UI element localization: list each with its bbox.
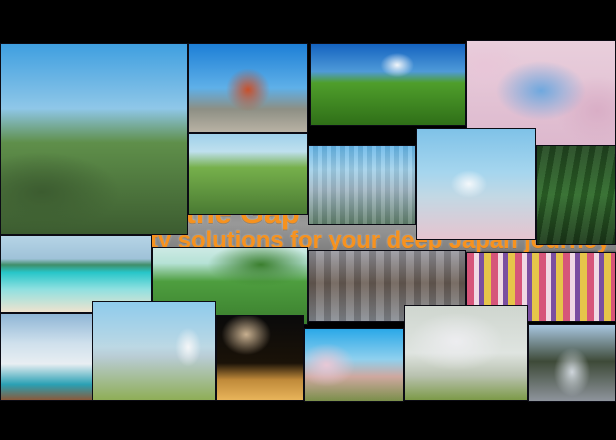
- collage-tile-shrine-torii-approach: [528, 324, 616, 402]
- collage-tile-cherry-trees-country-station: [404, 305, 528, 401]
- collage-tile-tea-plantation-mount-fuji: [310, 43, 466, 126]
- collage-tile-night-float-lantern-festival: [216, 315, 304, 401]
- collage-tile-chureito-pagoda-mount-fuji: [416, 128, 536, 240]
- collage-tile-yamadera-temple-mountain-view: [0, 43, 188, 235]
- photo-collage: [0, 0, 616, 440]
- collage-tile-kanazawa-station-tsuzumi-gate: [188, 43, 308, 133]
- collage-tile-cruise-ship-at-port: [0, 313, 100, 401]
- collage-tile-five-story-pagoda-sakura: [304, 328, 404, 402]
- collage-tile-city-avenue-skyline: [308, 145, 416, 225]
- collage-tile-kushiro-marsh-observation-deck: [188, 133, 308, 215]
- hero-banner: Bridging the Gap in Transit Deserts Smar…: [0, 0, 616, 440]
- collage-tile-windmill-seaside-park: [92, 301, 216, 401]
- collage-tile-forest-stone-path: [536, 145, 616, 245]
